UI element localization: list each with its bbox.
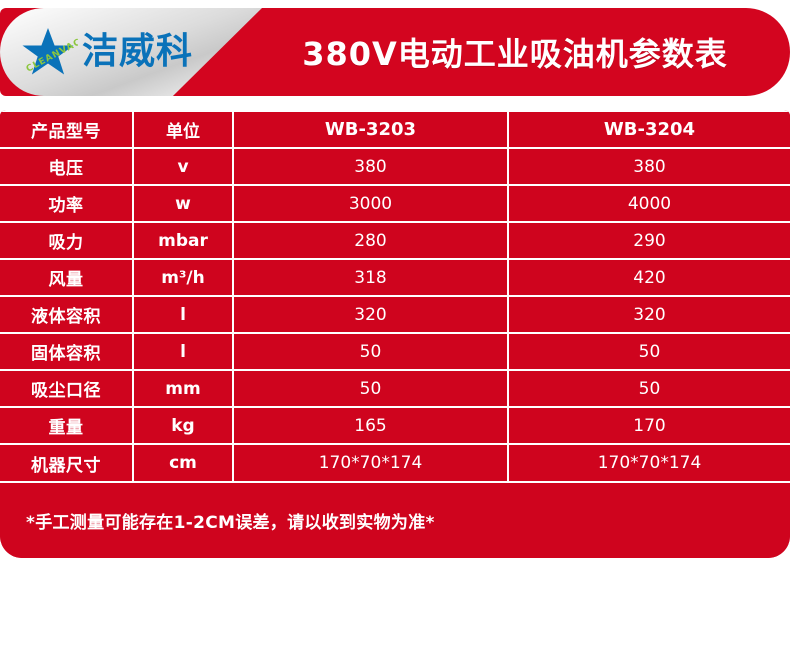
- header-model-wb3203: WB-3203: [233, 111, 508, 148]
- row-value-wb3204: 170: [508, 407, 790, 444]
- brand-name-label: 洁威科: [82, 34, 193, 70]
- table-row: 功率 w 3000 4000: [0, 185, 790, 222]
- row-value-wb3203: 318: [233, 259, 508, 296]
- header-model-wb3204: WB-3204: [508, 111, 790, 148]
- row-value-wb3203: 380: [233, 148, 508, 185]
- table-header-row: 产品型号 单位 WB-3203 WB-3204: [0, 111, 790, 148]
- table-row: 吸尘口径 mm 50 50: [0, 370, 790, 407]
- row-value-wb3204: 320: [508, 296, 790, 333]
- row-value-wb3203: 280: [233, 222, 508, 259]
- table-row: 机器尺寸 cm 170*70*174 170*70*174: [0, 444, 790, 481]
- row-value-wb3204: 420: [508, 259, 790, 296]
- row-value-wb3203: 50: [233, 370, 508, 407]
- product-spec-sheet: CLEANVAC 洁威科 380V电动工业吸油机参数表 产品型号 单位 WB-3…: [0, 0, 790, 656]
- row-value-wb3203: 3000: [233, 185, 508, 222]
- row-value-wb3204: 170*70*174: [508, 444, 790, 481]
- row-unit: kg: [133, 407, 233, 444]
- row-value-wb3204: 50: [508, 333, 790, 370]
- row-value-wb3204: 380: [508, 148, 790, 185]
- table-row: 风量 m³/h 318 420: [0, 259, 790, 296]
- header-unit: 单位: [133, 111, 233, 148]
- row-parameter: 机器尺寸: [0, 444, 133, 481]
- row-parameter: 电压: [0, 148, 133, 185]
- row-parameter: 重量: [0, 407, 133, 444]
- row-parameter: 功率: [0, 185, 133, 222]
- star-icon: CLEANVAC: [22, 26, 78, 78]
- table-row: 重量 kg 165 170: [0, 407, 790, 444]
- measurement-note-area: *手工测量可能存在1-2CM误差，请以收到实物为准*: [0, 481, 790, 558]
- measurement-note: *手工测量可能存在1-2CM误差，请以收到实物为准*: [0, 508, 435, 533]
- row-value-wb3204: 50: [508, 370, 790, 407]
- header-banner: CLEANVAC 洁威科 380V电动工业吸油机参数表: [0, 8, 790, 96]
- spec-table-body: 产品型号 单位 WB-3203 WB-3204 电压 v 380 380 功率 …: [0, 111, 790, 481]
- row-parameter: 吸力: [0, 222, 133, 259]
- row-value-wb3203: 170*70*174: [233, 444, 508, 481]
- row-parameter: 吸尘口径: [0, 370, 133, 407]
- row-unit: m³/h: [133, 259, 233, 296]
- row-unit: cm: [133, 444, 233, 481]
- row-unit: v: [133, 148, 233, 185]
- row-unit: mbar: [133, 222, 233, 259]
- page-title: 380V电动工业吸油机参数表: [255, 8, 775, 96]
- row-value-wb3204: 290: [508, 222, 790, 259]
- brand-logo: CLEANVAC 洁威科: [22, 26, 193, 78]
- row-unit: w: [133, 185, 233, 222]
- header-parameter: 产品型号: [0, 111, 133, 148]
- row-value-wb3203: 165: [233, 407, 508, 444]
- row-parameter: 液体容积: [0, 296, 133, 333]
- table-row: 固体容积 l 50 50: [0, 333, 790, 370]
- table-row: 吸力 mbar 280 290: [0, 222, 790, 259]
- spec-table: 产品型号 单位 WB-3203 WB-3204 电压 v 380 380 功率 …: [0, 110, 790, 481]
- table-row: 液体容积 l 320 320: [0, 296, 790, 333]
- row-value-wb3204: 4000: [508, 185, 790, 222]
- row-parameter: 固体容积: [0, 333, 133, 370]
- row-unit: mm: [133, 370, 233, 407]
- row-unit: l: [133, 296, 233, 333]
- row-parameter: 风量: [0, 259, 133, 296]
- row-value-wb3203: 320: [233, 296, 508, 333]
- row-value-wb3203: 50: [233, 333, 508, 370]
- spec-table-container: 产品型号 单位 WB-3203 WB-3204 电压 v 380 380 功率 …: [0, 110, 790, 558]
- table-row: 电压 v 380 380: [0, 148, 790, 185]
- row-unit: l: [133, 333, 233, 370]
- brand-logo-plate: CLEANVAC 洁威科: [0, 8, 262, 96]
